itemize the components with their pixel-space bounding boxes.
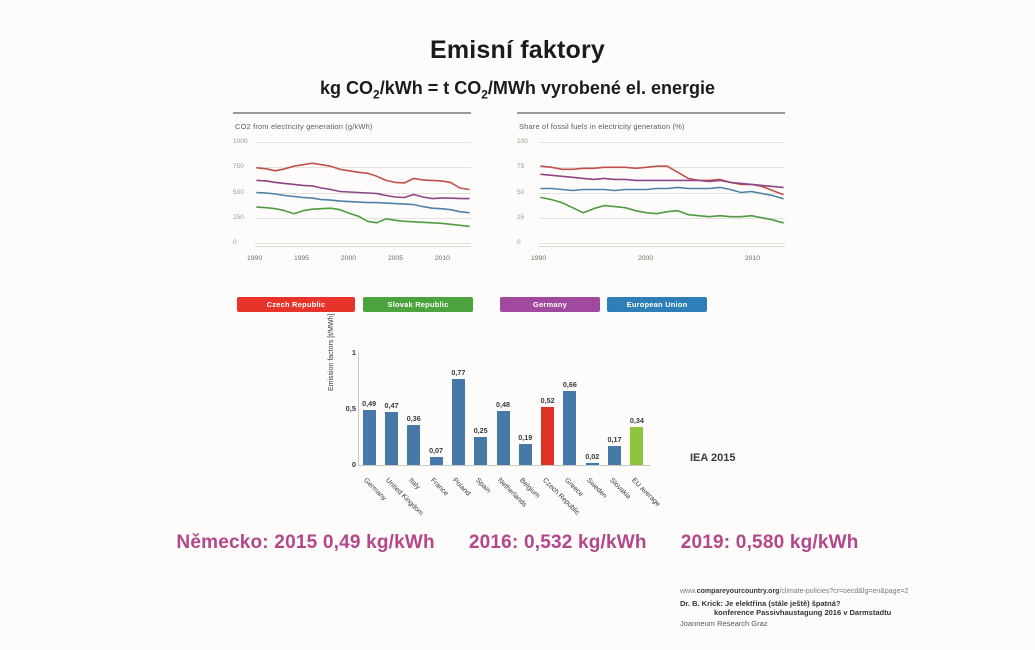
chart-plot-area-fossil: 0255075100199020002010 <box>517 138 785 265</box>
bar-france[interactable]: 0,07 <box>430 353 443 465</box>
bar-slovakia[interactable]: 0,17 <box>608 353 621 465</box>
iea-annotation: IEA 2015 <box>690 452 735 464</box>
x-axis-line <box>539 246 785 247</box>
bar-italy[interactable]: 0,36 <box>407 353 420 465</box>
y-tick-label: 0 <box>517 239 537 246</box>
bar-value-label: 0,52 <box>541 396 555 405</box>
bar-value-label: 0,25 <box>474 426 488 435</box>
bar-fill <box>430 457 443 465</box>
bar-value-label: 0,77 <box>451 368 465 377</box>
y-tick-label: 500 <box>233 189 253 196</box>
footer: www.compareyourcountry.org/climate-polic… <box>680 588 1025 628</box>
bar-belgium[interactable]: 0,19 <box>519 353 532 465</box>
y-tick-label: 0 <box>233 239 253 246</box>
bar-fill <box>407 425 420 465</box>
bar-fill <box>497 411 510 465</box>
footer-line-2: konference Passivhaustagung 2016 v Darms… <box>714 608 1025 617</box>
bar-value-label: 0,36 <box>407 414 421 423</box>
bar-fill <box>586 463 599 465</box>
line-series-slovak-republic <box>257 207 469 226</box>
bar-fill <box>541 407 554 465</box>
bar-fill <box>563 391 576 465</box>
chart-emission-factors: Emission factors [t/MWh] 00,51 0,49Germa… <box>330 345 690 520</box>
subtitle-sub-1: 2 <box>373 88 380 102</box>
bar-y-tick-label: 0,5 <box>342 404 356 413</box>
germany-2015: Německo: 2015 0,49 kg/kWh <box>176 532 434 553</box>
bar-germany[interactable]: 0,49 <box>363 353 376 465</box>
bar-category-label: Italy <box>407 477 421 491</box>
url-path: /climate-policies?cr=oecd&lg=en&page=2 <box>779 588 908 595</box>
bar-chart-x-axis <box>358 465 650 466</box>
subtitle-sub-2: 2 <box>481 88 488 102</box>
bar-greece[interactable]: 0,66 <box>563 353 576 465</box>
bar-category-label: Sweden <box>585 477 608 500</box>
line-series-czech-republic <box>257 163 469 189</box>
germany-2019: 2019: 0,580 kg/kWh <box>681 532 859 553</box>
line-series-european-union <box>541 187 783 198</box>
germany-emission-summary: Německo: 2015 0,49 kg/kWh2016: 0,532 kg/… <box>0 532 1035 554</box>
footer-line-1: Dr. B. Krick: Je elektřina (stále ještě)… <box>680 599 1025 608</box>
line-series-european-union <box>257 193 469 213</box>
bar-y-tick-label: 0 <box>342 460 356 469</box>
page-title: Emisní faktory <box>0 36 1035 65</box>
bar-czech-republic[interactable]: 0,52 <box>541 353 554 465</box>
chart-top-rule <box>517 112 785 114</box>
source-url[interactable]: www.compareyourcountry.org/climate-polic… <box>680 588 1025 595</box>
bar-fill <box>363 410 376 465</box>
y-tick-label: 1000 <box>233 138 253 145</box>
bar-value-label: 0,19 <box>518 433 532 442</box>
bar-category-label: Slovakia <box>608 477 632 501</box>
line-series-slovak-republic <box>541 198 783 223</box>
bar-united-kingdom[interactable]: 0,47 <box>385 353 398 465</box>
bar-value-label: 0,02 <box>585 452 599 461</box>
bar-fill <box>452 379 465 465</box>
bar-fill <box>630 427 643 465</box>
bar-category-label: Greece <box>563 477 584 498</box>
bar-value-label: 0,47 <box>384 401 398 410</box>
germany-2016: 2016: 0,532 kg/kWh <box>469 532 647 553</box>
url-domain: compareyourcountry.org <box>697 588 780 595</box>
chart-plot-area-co2: 0250500750100019901995200020052010 <box>233 138 471 265</box>
chart-co2-intensity: CO2 from electricity generation (g/kWh) … <box>233 112 471 287</box>
legend-item-european-union[interactable]: European Union <box>607 297 707 312</box>
bar-poland[interactable]: 0,77 <box>452 353 465 465</box>
legend-item-czech-republic[interactable]: Czech Republic <box>237 297 355 312</box>
subtitle-mid: /kWh = t CO <box>380 78 482 98</box>
x-axis-line <box>255 246 471 247</box>
bar-category-label: Spain <box>474 477 492 495</box>
bar-value-label: 0,17 <box>608 435 622 444</box>
line-charts-group: CO2 from electricity generation (g/kWh) … <box>225 112 785 287</box>
y-tick-label: 250 <box>233 214 253 221</box>
bar-netherlands[interactable]: 0,48 <box>497 353 510 465</box>
legend-item-germany[interactable]: Germany <box>500 297 600 312</box>
bar-value-label: 0,48 <box>496 400 510 409</box>
bar-y-tick-label: 1 <box>342 348 356 357</box>
bar-sweden[interactable]: 0,02 <box>586 353 599 465</box>
y-tick-label: 100 <box>517 138 537 145</box>
page-subtitle: kg CO2/kWh = t CO2/MWh vyrobené el. ener… <box>0 78 1035 102</box>
legend-item-slovak-republic[interactable]: Slovak Republic <box>363 297 473 312</box>
bar-category-label: Poland <box>451 477 471 497</box>
bar-value-label: 0,34 <box>630 416 644 425</box>
bar-eu-average[interactable]: 0,34 <box>630 353 643 465</box>
bar-spain[interactable]: 0,25 <box>474 353 487 465</box>
bar-chart-plot-area: 0,49Germany0,47United Kingdom0,36Italy0,… <box>358 353 648 465</box>
chart-top-rule <box>233 112 471 114</box>
bar-fill <box>385 412 398 465</box>
y-tick-label: 750 <box>233 163 253 170</box>
line-series-germany <box>541 174 783 187</box>
subtitle-pre: kg CO <box>320 78 373 98</box>
subtitle-post: /MWh vyrobené el. energie <box>488 78 715 98</box>
bar-category-label: EU average <box>630 477 661 508</box>
url-prefix: www. <box>680 588 697 595</box>
bar-category-label: Belgium <box>518 477 541 500</box>
bar-fill <box>519 444 532 465</box>
bar-chart-y-label: Emission factors [t/MWh] <box>328 314 335 391</box>
bar-value-label: 0,07 <box>429 446 443 455</box>
y-tick-label: 75 <box>517 163 537 170</box>
y-tick-label: 25 <box>517 214 537 221</box>
chart-title-co2: CO2 from electricity generation (g/kWh) <box>235 122 373 131</box>
bar-value-label: 0,66 <box>563 380 577 389</box>
bar-category-label: France <box>429 477 449 497</box>
bar-value-label: 0,49 <box>362 399 376 408</box>
country-legend: Czech RepublicSlovak RepublicGermanyEuro… <box>237 297 687 312</box>
chart-title-fossil: Share of fossil fuels in electricity gen… <box>519 122 685 131</box>
chart-fossil-share: Share of fossil fuels in electricity gen… <box>517 112 785 287</box>
footer-line-3: Joanneum Research Graz <box>680 619 1025 628</box>
bar-fill <box>474 437 487 465</box>
bar-fill <box>608 446 621 465</box>
slide-canvas: Emisní faktory kg CO2/kWh = t CO2/MWh vy… <box>0 0 1035 650</box>
y-tick-label: 50 <box>517 189 537 196</box>
